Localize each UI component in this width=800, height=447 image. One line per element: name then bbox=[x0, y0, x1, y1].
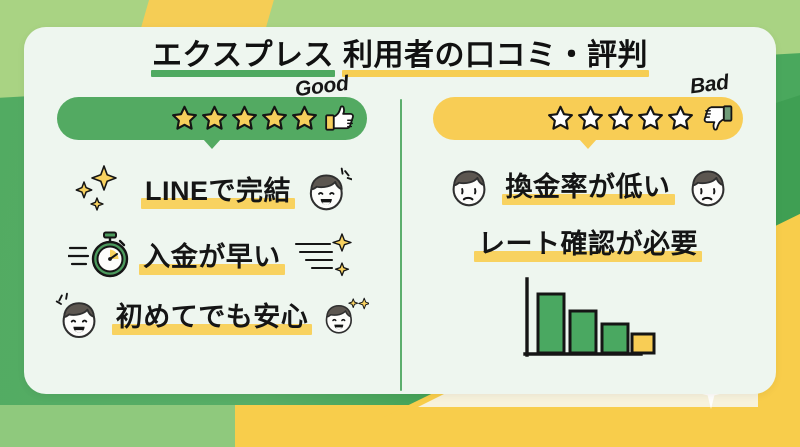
speed-lines-sparkle-icon bbox=[294, 230, 356, 282]
list-item-label: 初めてでも安心 bbox=[112, 295, 313, 336]
star-empty-icon bbox=[667, 105, 694, 132]
column-bad: Bad bbox=[400, 83, 776, 395]
happy-face-icon bbox=[304, 166, 352, 214]
pill-pointer-good bbox=[203, 139, 221, 149]
list-item: LINEで完結 bbox=[24, 162, 400, 218]
verdict-label-bad: Bad bbox=[689, 70, 730, 99]
page-title-rest: 利用者の口コミ・評判 bbox=[342, 39, 649, 77]
list-item: 換金率が低い bbox=[400, 162, 776, 210]
star-empty-icon bbox=[607, 105, 634, 132]
thumbs-up-icon bbox=[323, 100, 359, 136]
column-good: Good bbox=[24, 83, 400, 395]
page-title-brand: エクスプレス bbox=[151, 39, 335, 77]
list-item-label: 入金が早い bbox=[139, 235, 285, 276]
list-item-label: レート確認が必要 bbox=[474, 222, 702, 263]
happy-face-icon bbox=[55, 292, 103, 340]
rating-pill-bad bbox=[433, 97, 743, 140]
list-item: 入金が早い bbox=[24, 230, 400, 282]
star-filled-icon bbox=[171, 105, 198, 132]
poster-canvas: エクスプレス 利用者の口コミ・評判 Good bbox=[0, 0, 800, 447]
star-empty-icon bbox=[577, 105, 604, 132]
list-item: 初めてでも安心 bbox=[24, 292, 400, 340]
content-card: エクスプレス 利用者の口コミ・評判 Good bbox=[24, 27, 776, 394]
background-bottom-green-band bbox=[0, 405, 235, 447]
background-bottom-yellow-band bbox=[235, 405, 800, 447]
stopwatch-icon bbox=[68, 230, 130, 282]
sad-face-icon bbox=[445, 162, 493, 210]
reviews-columns: Good bbox=[24, 77, 776, 395]
pill-pointer-bad bbox=[579, 139, 597, 149]
bar-chart-icon bbox=[513, 277, 663, 363]
star-filled-icon bbox=[231, 105, 258, 132]
thumbs-down-icon bbox=[699, 100, 735, 136]
star-empty-icon bbox=[547, 105, 574, 132]
star-empty-icon bbox=[637, 105, 664, 132]
star-filled-icon bbox=[291, 105, 318, 132]
rating-banner-bad: Bad bbox=[433, 97, 743, 140]
declining-rate-chart bbox=[400, 277, 776, 363]
rating-pill-good bbox=[57, 97, 367, 140]
list-item-label: 換金率が低い bbox=[502, 165, 675, 206]
list-item: レート確認が必要 bbox=[400, 222, 776, 263]
rating-banner-good: Good bbox=[57, 97, 367, 140]
happy-face-icon bbox=[321, 292, 369, 340]
list-item-label: LINEで完結 bbox=[141, 169, 295, 210]
sad-face-icon bbox=[684, 162, 732, 210]
page-title: エクスプレス 利用者の口コミ・評判 bbox=[24, 27, 776, 77]
star-filled-icon bbox=[261, 105, 288, 132]
star-filled-icon bbox=[201, 105, 228, 132]
star-rating-bad bbox=[547, 105, 694, 132]
sparkles-icon bbox=[72, 162, 132, 218]
star-rating-good bbox=[171, 105, 318, 132]
